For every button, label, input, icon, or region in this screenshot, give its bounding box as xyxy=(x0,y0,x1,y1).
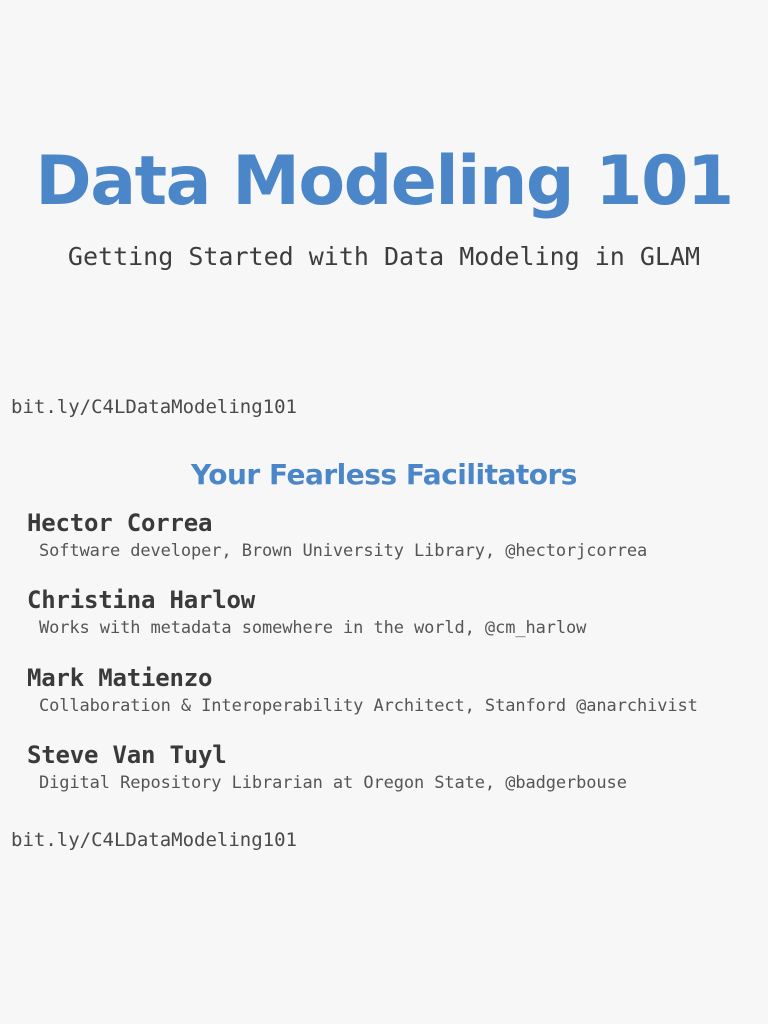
facilitator-list: Hector Correa Software developer, Brown … xyxy=(0,508,768,817)
short-url-top[interactable]: bit.ly/C4LDataModeling101 xyxy=(11,396,297,418)
facilitator-name: Steve Van Tuyl xyxy=(0,740,768,770)
facilitators-heading: Your Fearless Facilitators xyxy=(0,458,768,491)
list-item: Hector Correa Software developer, Brown … xyxy=(0,508,768,562)
title-block: Data Modeling 101 Getting Started with D… xyxy=(0,148,768,272)
list-item: Mark Matienzo Collaboration & Interopera… xyxy=(0,663,768,717)
facilitator-name: Christina Harlow xyxy=(0,585,768,615)
facilitator-bio: Works with metadata somewhere in the wor… xyxy=(0,615,768,639)
facilitator-name: Mark Matienzo xyxy=(0,663,768,693)
list-item: Steve Van Tuyl Digital Repository Librar… xyxy=(0,740,768,794)
page-title: Data Modeling 101 xyxy=(0,148,768,216)
slide-subtitle: Getting Started with Data Modeling in GL… xyxy=(0,216,768,272)
presentation-slide: Data Modeling 101 Getting Started with D… xyxy=(0,0,768,1024)
facilitator-name: Hector Correa xyxy=(0,508,768,538)
list-item: Christina Harlow Works with metadata som… xyxy=(0,585,768,639)
facilitator-bio: Collaboration & Interoperability Archite… xyxy=(0,693,768,717)
short-url-bottom[interactable]: bit.ly/C4LDataModeling101 xyxy=(11,829,297,851)
facilitator-bio: Digital Repository Librarian at Oregon S… xyxy=(0,770,768,794)
facilitator-bio: Software developer, Brown University Lib… xyxy=(0,538,768,562)
